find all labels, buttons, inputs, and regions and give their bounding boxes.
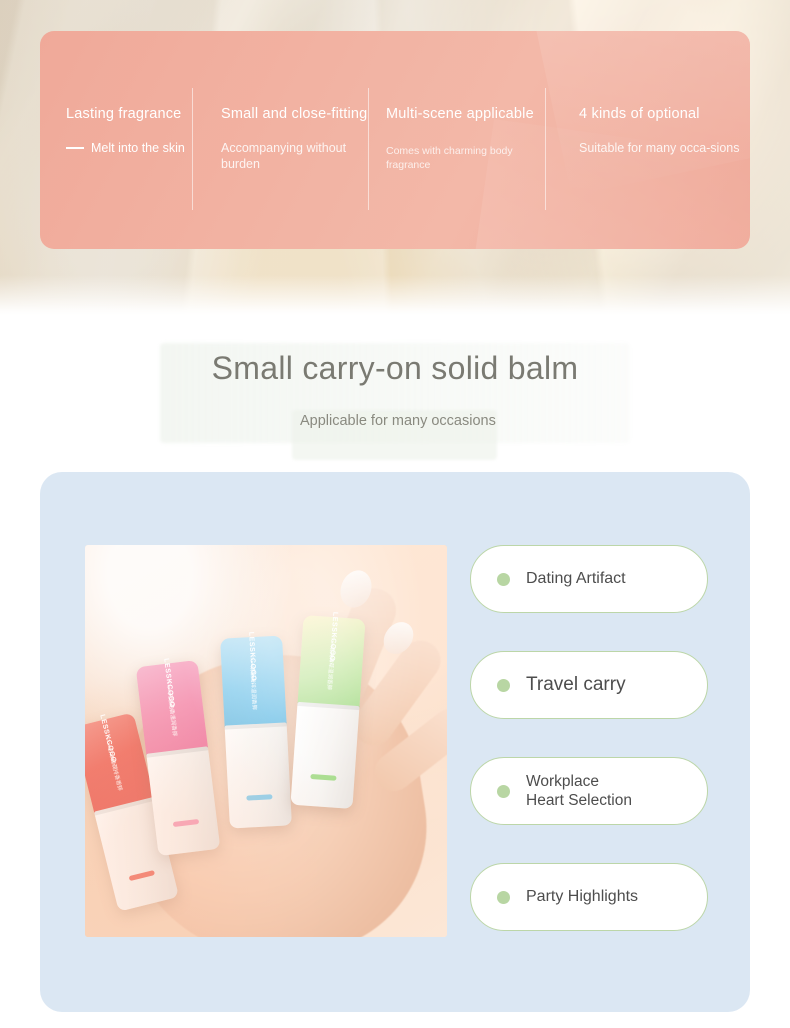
product-section: Small carry-on solid balm Applicable for…	[0, 315, 790, 1028]
benefit-label-4: Party Highlights	[526, 887, 638, 907]
benefit-item-party-highlights[interactable]: Party Highlights	[470, 863, 708, 931]
feature-title-2: Small and close-fitting	[221, 105, 368, 123]
benefit-item-dating-artifact[interactable]: Dating Artifact	[470, 545, 708, 613]
bullet-dot-icon	[497, 573, 510, 586]
benefit-label-3: Workplace Heart Selection	[526, 772, 632, 811]
balm-cap-green: LESSKCOCO Flower Charm 清爽青草温润香膟	[297, 615, 365, 710]
hero-photo-section: Lasting fragrance Melt into the skin Sma…	[0, 0, 790, 315]
feature-column-four-kinds: 4 kinds of optional Suitable for many oc…	[546, 31, 746, 249]
section-title: Small carry-on solid balm	[0, 350, 790, 387]
feature-column-small-close-fitting: Small and close-fitting Accompanying wit…	[193, 31, 368, 249]
balm-body-blue	[225, 723, 292, 829]
balm-cn-red: 日命红潤持香香膟	[106, 747, 124, 792]
feature-columns: Lasting fragrance Melt into the skin Sma…	[40, 31, 750, 249]
feature-column-lasting-fragrance: Lasting fragrance Melt into the skin	[40, 31, 192, 249]
benefit-item-travel-carry[interactable]: Travel carry	[470, 651, 708, 719]
feature-title-1: Lasting fragrance	[66, 105, 192, 123]
feature-column-multi-scene: Multi-scene applicable Comes with charmi…	[369, 31, 545, 249]
bullet-dot-icon	[497, 679, 510, 692]
section-subtitle: Applicable for many occasions	[300, 412, 550, 431]
balm-cn-green: 清爽青草温润香膟	[326, 646, 337, 690]
feature-sub-3: Comes with charming body fragrance	[386, 145, 545, 172]
balm-cap-pink: LESSKCOCO Flower Charm 天然花香湩润香膟	[136, 660, 209, 758]
bullet-dot-icon	[497, 891, 510, 904]
feature-sub-2: Accompanying without burden	[221, 140, 368, 172]
balm-body-green	[290, 702, 359, 809]
balm-cn-blue: 清新海洋温润香膟	[249, 666, 259, 710]
product-panel: LESSKCOCO Flower Charm 日命红潤持香香膟 LESSKCOC…	[40, 472, 750, 1012]
feature-sub-1-text: Melt into the skin	[91, 141, 185, 155]
feature-sub-1: Melt into the skin	[66, 140, 192, 156]
feature-sub-4: Suitable for many occa-sions	[579, 140, 746, 156]
product-photo: LESSKCOCO Flower Charm 日命红潤持香香膟 LESSKCOC…	[85, 545, 447, 937]
feature-title-3: Multi-scene applicable	[386, 105, 545, 123]
benefit-list: Dating Artifact Travel carry Workplace H…	[470, 545, 708, 969]
benefit-item-workplace-heart-selection[interactable]: Workplace Heart Selection	[470, 757, 708, 825]
benefit-label-1: Dating Artifact	[526, 569, 626, 589]
bullet-dot-icon	[497, 785, 510, 798]
balm-body-pink	[146, 747, 220, 856]
hero-bottom-fade	[0, 275, 790, 315]
balm-stick-green: LESSKCOCO Flower Charm 清爽青草温润香膟	[290, 615, 365, 809]
feature-highlights-card: Lasting fragrance Melt into the skin Sma…	[40, 31, 750, 249]
balm-cn-pink: 天然花香湩润香膟	[166, 692, 179, 737]
feature-title-4: 4 kinds of optional	[579, 105, 746, 123]
dash-line-icon	[66, 147, 84, 149]
balm-stick-blue: LESSKCOCO Flower Charm 清新海洋温润香膟	[220, 636, 292, 829]
balm-cap-blue: LESSKCOCO Flower Charm 清新海洋温润香膟	[220, 636, 287, 730]
benefit-label-2: Travel carry	[526, 673, 626, 697]
